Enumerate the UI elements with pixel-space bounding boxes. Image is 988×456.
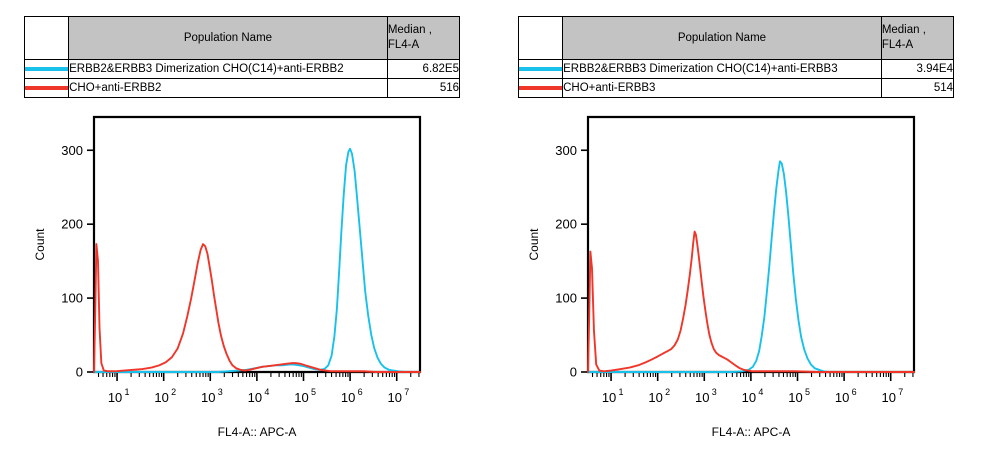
table-row: ERBB2&ERBB3 Dimerization CHO(C14)+anti-E… <box>519 60 954 79</box>
population-name-cell: CHO+anti-ERBB2 <box>69 79 388 98</box>
median-value-cell: 514 <box>881 79 953 98</box>
svg-text:2: 2 <box>171 387 176 397</box>
median-value-cell: 516 <box>387 79 459 98</box>
header-swatch-blank <box>25 17 69 60</box>
header-median: Median , FL4-A <box>881 17 953 60</box>
legend-swatch-cell <box>519 60 563 79</box>
svg-text:300: 300 <box>61 143 83 158</box>
svg-text:200: 200 <box>555 217 577 232</box>
header-population-name: Population Name <box>563 17 882 60</box>
svg-text:100: 100 <box>555 291 577 306</box>
header-median-line1: Median , <box>388 23 459 38</box>
histogram-plot-erbb2: 0100200300Count101102103104105106107FL4-… <box>24 106 464 446</box>
header-swatch-blank <box>519 17 563 60</box>
svg-text:10: 10 <box>835 390 849 405</box>
histogram-svg: 0100200300Count101102103104105106107FL4-… <box>24 106 464 446</box>
svg-text:100: 100 <box>61 291 83 306</box>
table-row: CHO+anti-ERBB3 514 <box>519 79 954 98</box>
svg-text:10: 10 <box>201 390 215 405</box>
svg-text:10: 10 <box>648 390 662 405</box>
svg-text:10: 10 <box>881 390 895 405</box>
svg-text:10: 10 <box>602 390 616 405</box>
table-header-row: Population Name Median , FL4-A <box>25 17 460 60</box>
legend-color-swatch-red <box>519 86 562 90</box>
population-name-cell: ERBB2&ERBB3 Dimerization CHO(C14)+anti-E… <box>69 60 388 79</box>
svg-text:5: 5 <box>805 387 810 397</box>
median-value-cell: 6.82E5 <box>387 60 459 79</box>
svg-text:10: 10 <box>695 390 709 405</box>
svg-text:1: 1 <box>619 387 624 397</box>
svg-text:10: 10 <box>294 390 308 405</box>
histogram-plot-erbb3: 0100200300Count101102103104105106107FL4-… <box>518 106 958 446</box>
svg-text:0: 0 <box>570 365 577 380</box>
panel-erbb2: Population Name Median , FL4-A ERBB2&ERB… <box>0 0 494 456</box>
svg-text:Count: Count <box>527 228 541 261</box>
svg-text:3: 3 <box>218 387 223 397</box>
legend-swatch-cell <box>25 79 69 98</box>
header-population-name: Population Name <box>69 17 388 60</box>
header-median-line2: FL4-A <box>882 38 953 53</box>
median-value-cell: 3.94E4 <box>881 60 953 79</box>
svg-text:7: 7 <box>898 387 903 397</box>
histogram-svg: 0100200300Count101102103104105106107FL4-… <box>518 106 958 446</box>
svg-text:2: 2 <box>665 387 670 397</box>
header-median: Median , FL4-A <box>387 17 459 60</box>
svg-text:10: 10 <box>742 390 756 405</box>
svg-text:300: 300 <box>555 143 577 158</box>
legend-color-swatch-red <box>25 86 68 90</box>
svg-text:FL4-A:: APC-A: FL4-A:: APC-A <box>218 425 297 439</box>
svg-text:7: 7 <box>404 387 409 397</box>
svg-text:6: 6 <box>852 387 857 397</box>
svg-text:5: 5 <box>311 387 316 397</box>
population-name-cell: ERBB2&ERBB3 Dimerization CHO(C14)+anti-E… <box>563 60 882 79</box>
header-median-line1: Median , <box>882 23 953 38</box>
table-row: CHO+anti-ERBB2 516 <box>25 79 460 98</box>
svg-text:10: 10 <box>108 390 122 405</box>
legend-swatch-cell <box>25 60 69 79</box>
flow-cytometry-figure: Population Name Median , FL4-A ERBB2&ERB… <box>0 0 988 456</box>
svg-text:FL4-A:: APC-A: FL4-A:: APC-A <box>712 425 791 439</box>
svg-text:3: 3 <box>712 387 717 397</box>
population-legend-table: Population Name Median , FL4-A ERBB2&ERB… <box>518 16 954 98</box>
svg-text:4: 4 <box>758 387 763 397</box>
legend-color-swatch-cyan <box>25 67 68 71</box>
legend-swatch-cell <box>519 79 563 98</box>
population-name-cell: CHO+anti-ERBB3 <box>563 79 882 98</box>
svg-text:10: 10 <box>341 390 355 405</box>
population-legend-table: Population Name Median , FL4-A ERBB2&ERB… <box>24 16 460 98</box>
header-median-line2: FL4-A <box>388 38 459 53</box>
table-row: ERBB2&ERBB3 Dimerization CHO(C14)+anti-E… <box>25 60 460 79</box>
svg-text:200: 200 <box>61 217 83 232</box>
svg-text:0: 0 <box>76 365 83 380</box>
svg-text:10: 10 <box>387 390 401 405</box>
svg-text:10: 10 <box>248 390 262 405</box>
legend-color-swatch-cyan <box>519 67 562 71</box>
svg-text:4: 4 <box>264 387 269 397</box>
svg-text:10: 10 <box>154 390 168 405</box>
panel-erbb3: Population Name Median , FL4-A ERBB2&ERB… <box>494 0 988 456</box>
svg-text:Count: Count <box>33 228 47 261</box>
table-header-row: Population Name Median , FL4-A <box>519 17 954 60</box>
svg-text:6: 6 <box>358 387 363 397</box>
svg-text:10: 10 <box>788 390 802 405</box>
svg-text:1: 1 <box>125 387 130 397</box>
